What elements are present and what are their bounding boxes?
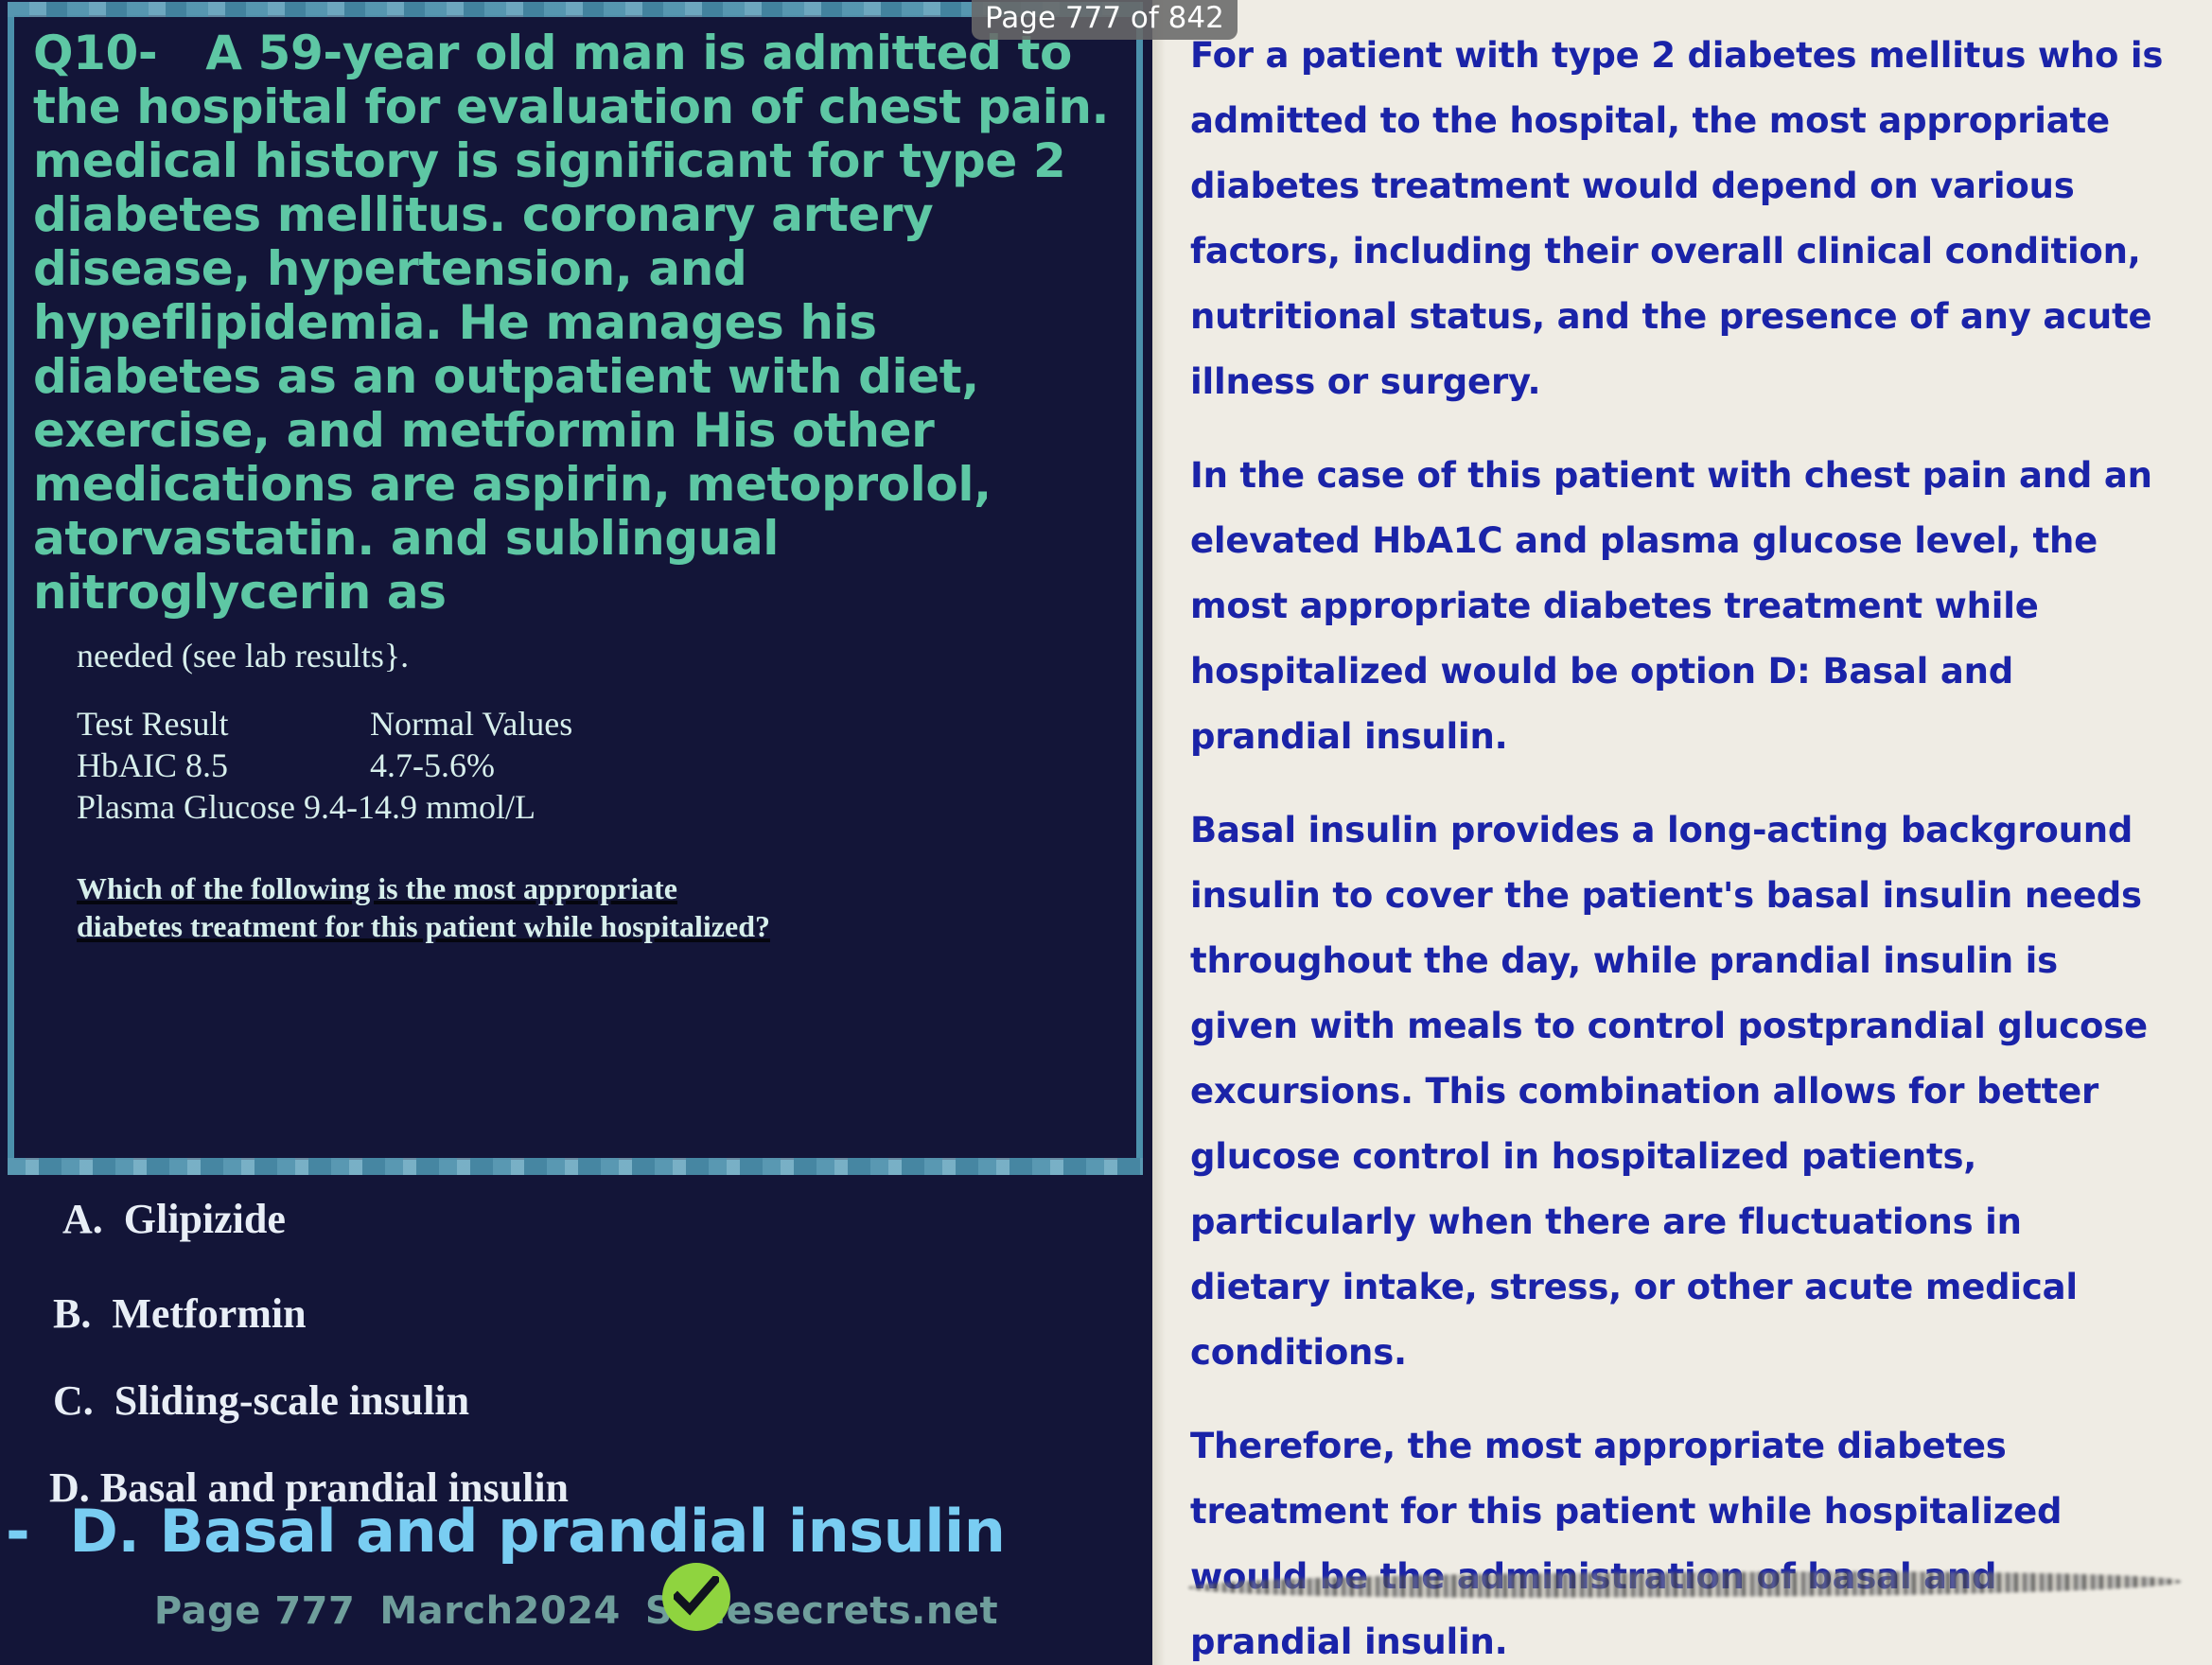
- question-stem: Q10- A 59-year old man is admitted to th…: [27, 26, 1115, 620]
- question-card-body: Q10- A 59-year old man is admitted to th…: [14, 15, 1136, 1160]
- lab-results-table: Test Result Normal Values HbAIC 8.5 4.7-…: [77, 703, 572, 828]
- lab-col-header-test: Test Result: [77, 703, 370, 745]
- lab-col-header-normal: Normal Values: [370, 703, 572, 745]
- option-a[interactable]: A. Glipizide: [62, 1196, 1152, 1243]
- correct-answer-callout: - D. Basal and prandial insulin: [0, 1498, 1152, 1565]
- question-card-frame: Q10- A 59-year old man is admitted to th…: [8, 2, 1143, 1175]
- explanation-paragraph-4: Therefore, the most appropriate diabetes…: [1190, 1413, 2168, 1665]
- footer-spacer-1: [355, 1589, 379, 1633]
- explanation-paragraph-3: Basal insulin provides a long-acting bac…: [1190, 797, 2168, 1385]
- slide-panel: Q10- A 59-year old man is admitted to th…: [0, 0, 1152, 1665]
- table-header-row: Test Result Normal Values: [77, 703, 572, 745]
- explanation-paragraph-1: For a patient with type 2 diabetes melli…: [1190, 23, 2168, 414]
- lab-cell-hba1c-normal: 4.7-5.6%: [370, 745, 572, 786]
- check-circle-icon: [662, 1563, 730, 1631]
- option-b[interactable]: B. Metformin: [53, 1290, 1152, 1338]
- slide-footer: Page 777 March2024 Smlesecrets.net: [0, 1589, 1152, 1633]
- question-prompt: Which of the following is the most appro…: [77, 869, 777, 945]
- footer-date: March2024: [379, 1589, 621, 1633]
- table-row: HbAIC 8.5 4.7-5.6%: [77, 745, 572, 786]
- lab-cell-glucose: Plasma Glucose 9.4-14.9 mmol/L: [77, 786, 572, 828]
- lab-cell-hba1c-result: HbAIC 8.5: [77, 745, 370, 786]
- lab-results-block: needed (see lab results}. Test Result No…: [27, 635, 1115, 828]
- footer-page: Page 777: [154, 1589, 355, 1633]
- explanation-paragraph-2: In the case of this patient with chest p…: [1190, 443, 2168, 769]
- explanation-panel: For a patient with type 2 diabetes melli…: [1152, 0, 2212, 1665]
- table-row: Plasma Glucose 9.4-14.9 mmol/L: [77, 786, 572, 828]
- answer-options-list: A. Glipizide B. Metformin C. Sliding-sca…: [0, 1190, 1152, 1512]
- needed-note: needed (see lab results}.: [77, 635, 1115, 676]
- footer-spacer-2: [621, 1589, 645, 1633]
- presentation-viewer: Q10- A 59-year old man is admitted to th…: [0, 0, 2212, 1665]
- option-c[interactable]: C. Sliding-scale insulin: [53, 1377, 1152, 1425]
- page-indicator-tooltip: Page 777 of 842: [972, 0, 1238, 40]
